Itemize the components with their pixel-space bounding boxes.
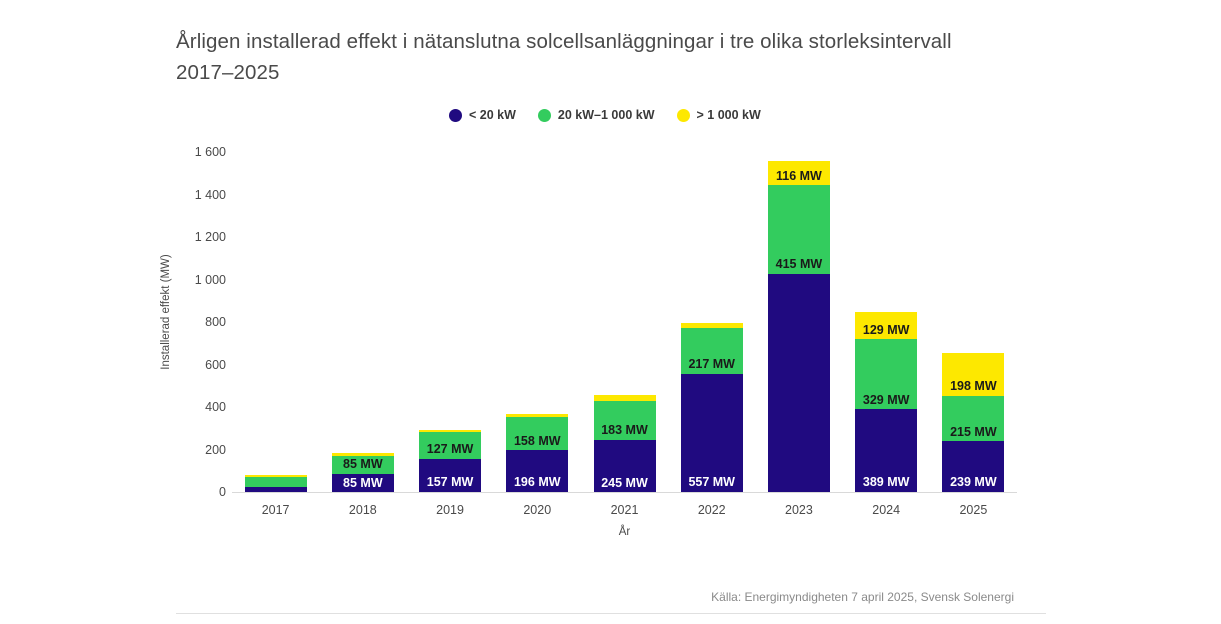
bar-value-label: 245 MW <box>601 477 648 493</box>
bar-value-label: 415 MW <box>776 258 823 274</box>
bar-segment[interactable]: 85 MW <box>332 474 394 492</box>
bar-segment[interactable] <box>245 477 307 487</box>
bar-value-label: 198 MW <box>950 380 997 396</box>
y-axis-tick-label: 800 <box>205 315 226 329</box>
x-axis-label: År <box>232 526 1017 538</box>
bar-segment[interactable]: 389 MW <box>855 409 917 492</box>
y-axis-label: Installerad effekt (MW) <box>160 254 172 369</box>
bar-value-label: 389 MW <box>863 476 910 492</box>
y-axis-tick-label: 1 200 <box>195 230 226 244</box>
bar-segment[interactable] <box>681 323 743 328</box>
bar-value-label: 85 MW <box>343 477 383 493</box>
bar-segment[interactable]: 245 MW <box>594 440 656 492</box>
bar-segment[interactable] <box>332 453 394 456</box>
footer-divider <box>176 613 1046 614</box>
bar-segment[interactable]: 198 MW <box>942 353 1004 395</box>
bar-segment[interactable] <box>419 430 481 431</box>
y-axis-ticks: 02004006008001 0001 2001 4001 600 <box>186 0 226 624</box>
y-axis-tick-label: 600 <box>205 358 226 372</box>
y-axis-tick-label: 0 <box>219 485 226 499</box>
bar-value-label: 217 MW <box>688 358 735 374</box>
bar-segment[interactable]: 415 MW <box>768 185 830 273</box>
source-note: Källa: Energimyndigheten 7 april 2025, S… <box>711 590 1014 604</box>
bar-segment[interactable]: 196 MW <box>506 450 568 492</box>
bar-segment[interactable] <box>768 274 830 492</box>
bar-segment[interactable] <box>594 395 656 401</box>
bar-segment[interactable] <box>245 487 307 492</box>
bar-value-label: 158 MW <box>514 435 561 451</box>
bar-value-label: 129 MW <box>863 324 910 340</box>
bar-value-label: 239 MW <box>950 476 997 492</box>
bar-value-label: 116 MW <box>776 170 822 186</box>
bar-value-label: 127 MW <box>427 443 474 459</box>
bar-segment[interactable]: 157 MW <box>419 459 481 492</box>
y-axis-tick-label: 400 <box>205 400 226 414</box>
bar-value-label: 329 MW <box>863 394 910 410</box>
y-axis-tick-label: 200 <box>205 443 226 457</box>
bar-segment[interactable]: 116 MW <box>768 161 830 186</box>
bar-segment[interactable] <box>245 475 307 477</box>
bar-value-label: 215 MW <box>950 426 997 442</box>
bar-segment[interactable]: 329 MW <box>855 339 917 409</box>
bar-segment[interactable]: 85 MW <box>332 456 394 474</box>
bar-value-label: 557 MW <box>688 476 735 492</box>
y-axis-label-wrap: Installerad effekt (MW) <box>182 0 183 624</box>
bar-segment[interactable]: 183 MW <box>594 401 656 440</box>
bar-segment[interactable]: 129 MW <box>855 312 917 339</box>
x-axis-tick-label: 2025 <box>913 503 1033 517</box>
bar-value-label: 183 MW <box>601 424 648 440</box>
bar-value-label: 85 MW <box>343 458 383 474</box>
bar-segment[interactable]: 158 MW <box>506 417 568 451</box>
bar-value-label: 196 MW <box>514 476 561 492</box>
bar-segment[interactable] <box>506 414 568 417</box>
bar-segment[interactable]: 239 MW <box>942 441 1004 492</box>
chart-figure: Årligen installerad effekt i nätanslutna… <box>0 0 1221 624</box>
y-axis-tick-label: 1 600 <box>195 145 226 159</box>
y-axis-tick-label: 1 000 <box>195 273 226 287</box>
bar-segment[interactable]: 215 MW <box>942 396 1004 442</box>
bar-segment[interactable]: 127 MW <box>419 432 481 459</box>
bar-segment[interactable]: 557 MW <box>681 374 743 492</box>
y-axis-tick-label: 1 400 <box>195 188 226 202</box>
bar-segment[interactable]: 217 MW <box>681 328 743 374</box>
bar-value-label: 157 MW <box>427 476 474 492</box>
